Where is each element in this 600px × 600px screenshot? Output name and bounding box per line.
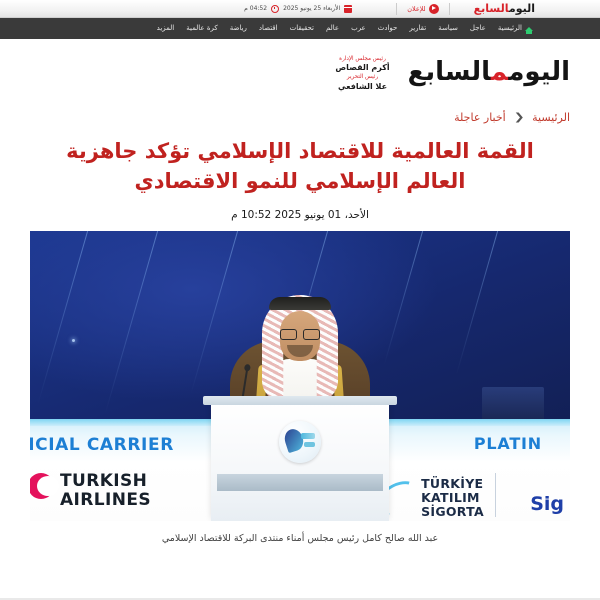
sponsor-platinum-label: PLATIN [474,434,542,453]
play-icon [429,4,439,14]
breadcrumb: الرئيسية ❮ أخبار عاجلة [30,101,570,130]
nav-item-home[interactable]: الرئيسية [492,18,535,39]
article-headline: القمة العالمية للاقتصاد الإسلامي تؤكد جا… [30,130,570,197]
nav-item-world-football[interactable]: كرة عالمية [180,18,223,39]
speaker-glasses [280,329,320,338]
site-logo-part1: اليوم [508,57,570,87]
nav-item-home-label: الرئيسية [498,18,522,39]
topbar-divider [449,3,450,15]
current-date: الأربعاء 25 يونيو 2025 [283,5,340,12]
podium-top-ledge [203,396,397,405]
site-logo-part2: السابع [408,57,491,87]
tks-line-2: KATILIM [421,491,484,505]
nav-item-politics[interactable]: سياسة [432,18,464,39]
main-navigation-inner: الرئيسية عاجل سياسة تقارير حوادث عرب عال… [65,18,535,39]
topbar-logo-accent: السابع [474,2,509,15]
masthead: اليوممالسابع رئيس مجلس الإدارة أكرم القص… [0,39,600,101]
topbar-divider-2 [396,3,397,15]
home-icon [525,27,533,31]
calendar-icon [344,5,352,13]
nav-item-arab[interactable]: عرب [345,18,372,39]
advertise-label: للإعلان [407,5,425,13]
nav-item-sports[interactable]: رياضة [224,18,253,39]
turkish-airlines-logo-mark [30,473,54,499]
nav-item-economy[interactable]: اقتصاد [253,18,284,39]
site-logo[interactable]: اليوممالسابع [408,59,570,85]
nav-item-world[interactable]: عالم [320,18,345,39]
editorial-credits: رئيس مجلس الإدارة أكرم القصاص رئيس التحر… [335,52,389,93]
site-logo-accent: م [491,57,508,87]
editor-name: علا الشافعي [335,82,389,93]
nav-item-accidents[interactable]: حوادث [372,18,404,39]
chevron-left-icon: ❮ [513,112,524,123]
emblem-shape-c [304,442,315,447]
advertise-link[interactable]: للإعلان [407,4,438,14]
podium [211,403,389,521]
top-utility-bar-inner: اليومالسابع للإعلان الأربعاء 25 يونيو 20… [65,0,535,17]
sponsor-sig-label: Sig [530,493,564,515]
clock-icon [271,5,279,13]
topbar-logo[interactable]: اليومالسابع [460,2,535,15]
main-navigation: الرئيسية عاجل سياسة تقارير حوادث عرب عال… [0,18,600,39]
nav-item-reports[interactable]: تقارير [403,18,432,39]
article-publish-date: الأحد، 01 يونيو 2025 10:52 م [30,197,570,231]
date-time-display: الأربعاء 25 يونيو 2025 04:52 م [244,5,352,13]
turkish-line-1: TURKISH [60,472,151,490]
article-page: الرئيسية ❮ أخبار عاجلة القمة العالمية لل… [0,101,600,598]
masthead-inner: اليوممالسابع رئيس مجلس الإدارة أكرم القص… [30,39,570,101]
article-photo: FICIAL CARRIER TURKISH AIRLINES PLATIN T… [30,231,570,521]
sponsor-official-carrier: FICIAL CARRIER [30,435,174,455]
podium-emblem-icon [279,421,321,463]
emblem-shape-b [301,433,315,439]
sponsor-turkiye-katilim-sigorta: TÜRKİYE KATILIM SİGORTA [421,477,484,519]
breadcrumb-home[interactable]: الرئيسية [532,111,570,124]
turkish-line-2: AIRLINES [60,491,151,509]
editor-role: رئيس التحرير [335,74,389,82]
light-sparkle [72,339,75,342]
nav-item-investigations[interactable]: تحقيقات [284,18,320,39]
breadcrumb-current[interactable]: أخبار عاجلة [454,111,506,124]
topbar-logo-text: اليوم [509,2,535,15]
nav-item-breaking[interactable]: عاجل [464,18,492,39]
speaker-agal [269,297,331,310]
podium-accent-band [217,474,383,491]
tks-line-3: SİGORTA [421,505,484,519]
nav-item-more[interactable]: المزيد [151,18,181,39]
current-time: 04:52 م [244,5,267,12]
top-utility-bar: اليومالسابع للإعلان الأربعاء 25 يونيو 20… [0,0,600,18]
photo-caption: عبد الله صالح كامل رئيس مجلس أمناء منتدى… [30,521,570,544]
emblem-shape-a [282,427,306,453]
sponsor-turkish-airlines: TURKISH AIRLINES [60,472,151,509]
tks-line-1: TÜRKİYE [421,477,484,491]
sponsor-divider [495,473,496,517]
chairman-name: أكرم القصاص [335,63,389,74]
